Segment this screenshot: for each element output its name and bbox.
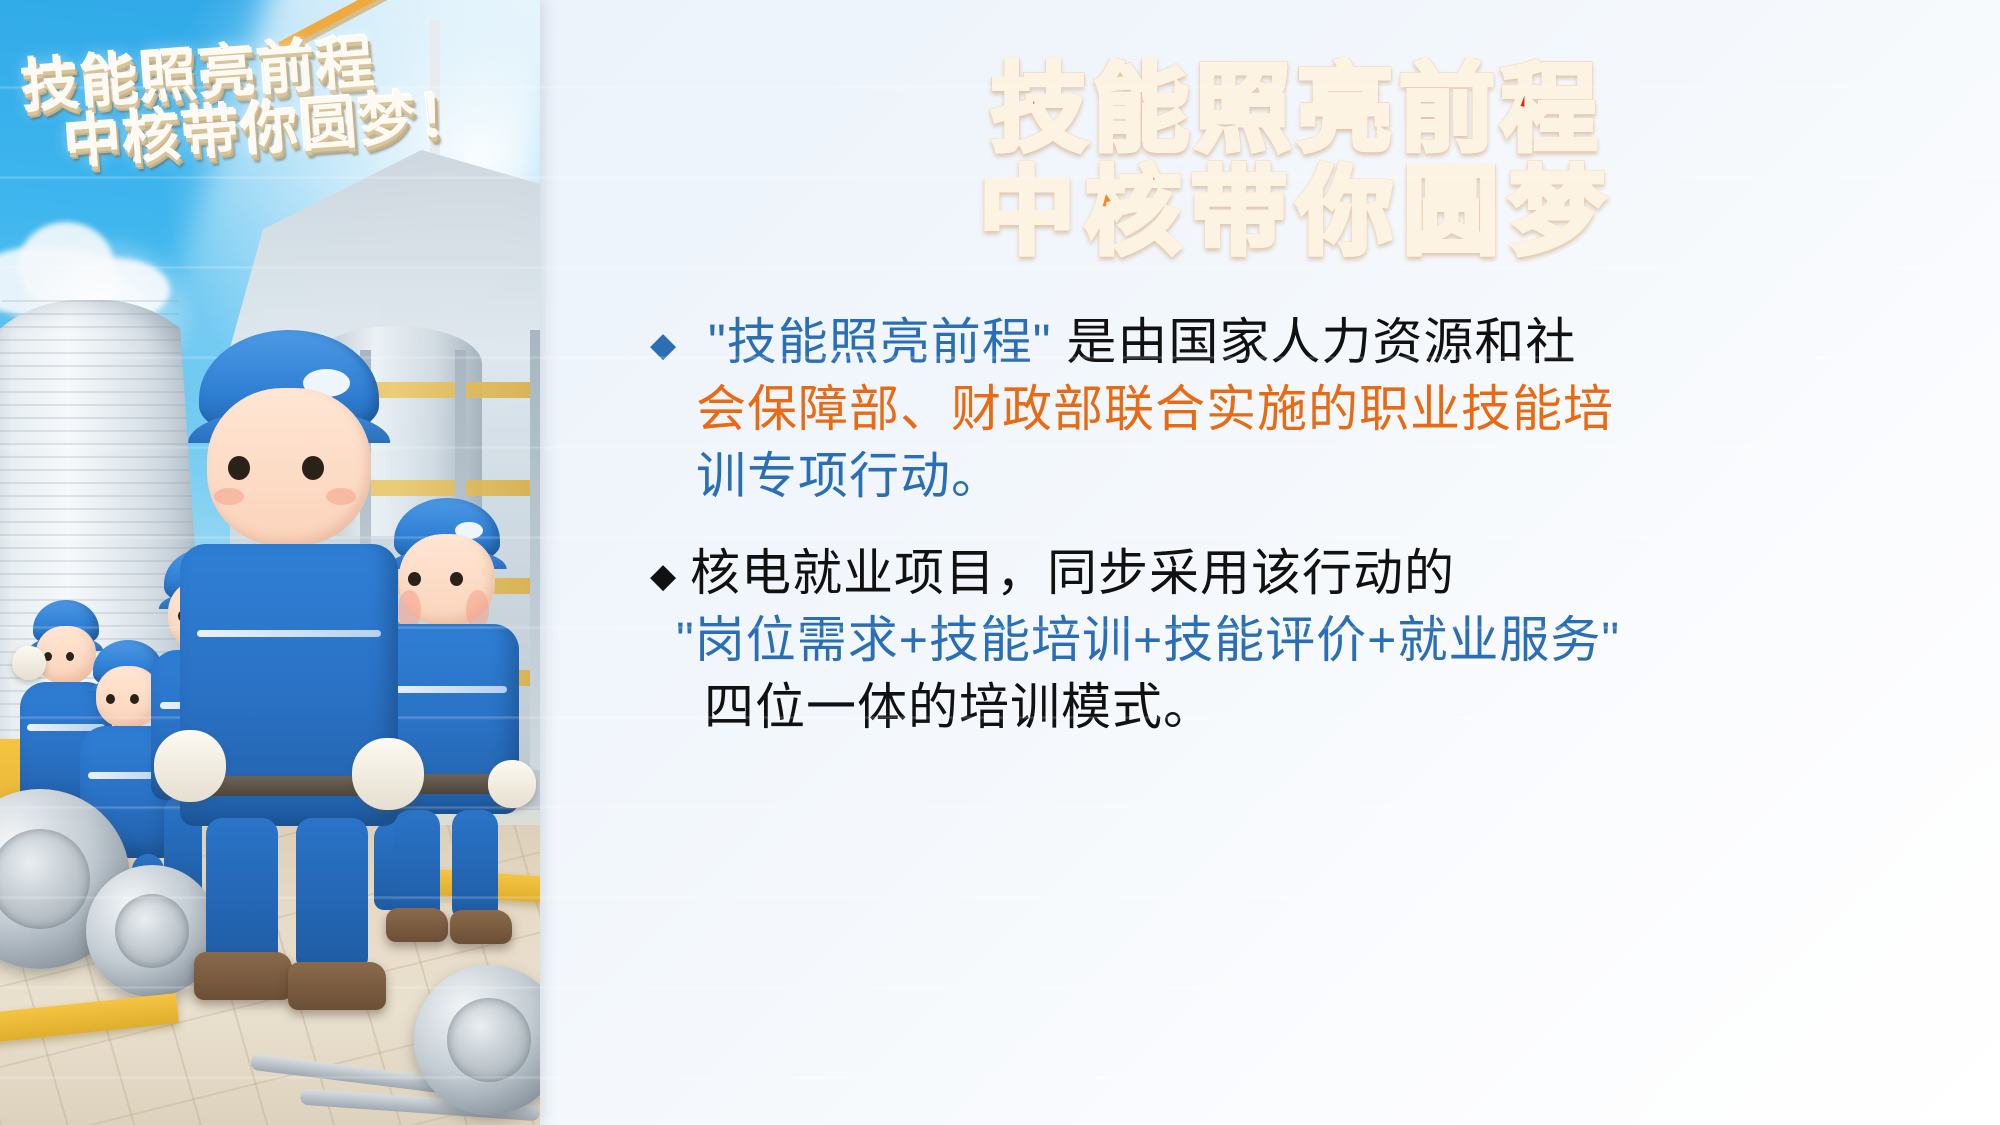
headline: 技能照亮前程 中核带你圆梦: [650, 58, 1944, 263]
diamond-bullet-blue-icon: ◆: [650, 309, 690, 381]
bullet-item-1: ◆ "技能照亮前程" 是由国家人力资源和社 会保障部、财政部联合实施的职业技能培…: [650, 309, 1944, 510]
diamond-bullet-black-icon: ◆: [650, 540, 690, 612]
bullet-1-line2: 会保障部、财政部联合实施的职业技能培: [690, 376, 1614, 443]
bullet-item-2: ◆ 核电就业项目，同步采用该行动的 "岗位需求+技能培训+技能评价+就业服务" …: [650, 540, 1944, 741]
headline-line1: 技能照亮前程: [991, 53, 1603, 165]
bullet-2-text: 核电就业项目，同步采用该行动的 "岗位需求+技能培训+技能评价+就业服务" 四位…: [690, 540, 1620, 741]
bullet-1-quoted-term: "技能照亮前程": [708, 314, 1052, 370]
worker-figure-main: [176, 330, 402, 990]
bullet-2-line3: 四位一体的培训模式。: [690, 674, 1620, 741]
bullet-1-line3: 训专项行动。: [690, 443, 1614, 510]
content-panel: 技能照亮前程 中核带你圆梦 ◆ "技能照亮前程" 是由国家人力资源和社 会保障部…: [540, 0, 2000, 1125]
bullet-1-text: "技能照亮前程" 是由国家人力资源和社 会保障部、财政部联合实施的职业技能培 训…: [690, 309, 1614, 510]
bullet-1-line1-rest: 是由国家人力资源和社: [1052, 314, 1577, 370]
bullet-2-line1: 核电就业项目，同步采用该行动的: [690, 540, 1620, 607]
bullet-2-line2: "岗位需求+技能培训+技能评价+就业服务": [676, 607, 1620, 674]
slide-canvas: 技能照亮前程中核带你圆梦！ 技能照亮前程 中核带你圆梦 ◆ "技能照亮前程" 是…: [0, 0, 2000, 1125]
poster-image: 技能照亮前程中核带你圆梦！: [0, 0, 540, 1125]
bullet-list: ◆ "技能照亮前程" 是由国家人力资源和社 会保障部、财政部联合实施的职业技能培…: [650, 309, 1944, 741]
headline-line2: 中核带你圆梦: [650, 161, 1944, 264]
